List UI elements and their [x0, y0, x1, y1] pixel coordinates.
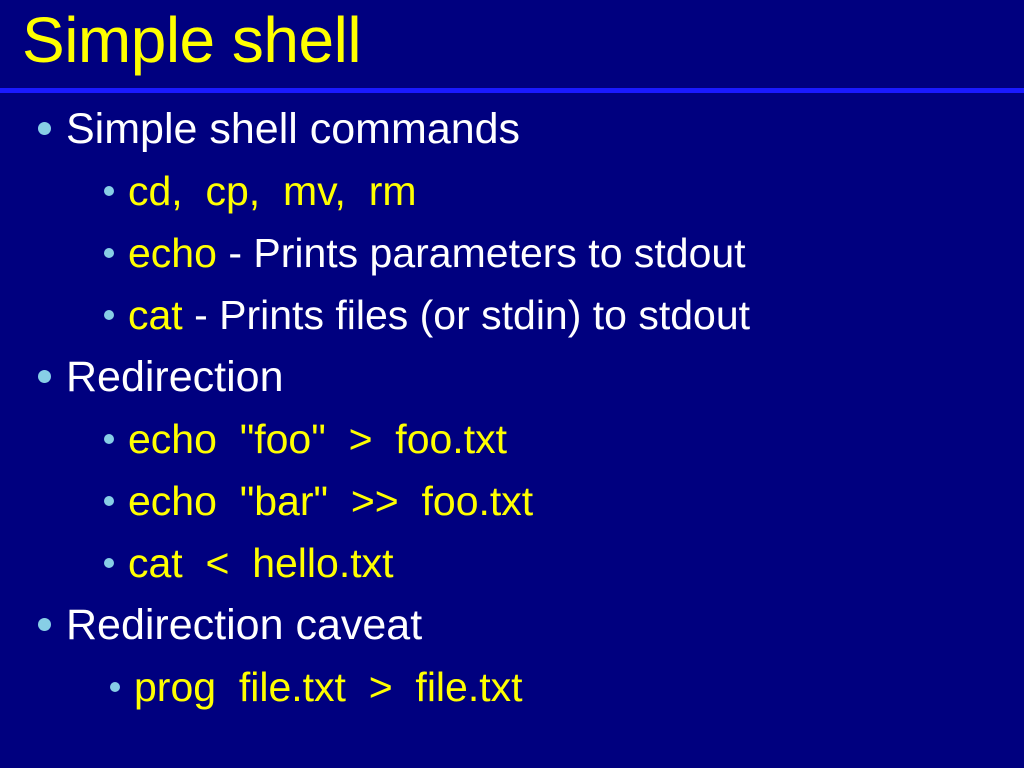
list-item-label: echo "bar" >> foo.txt — [128, 472, 533, 530]
list-item-label: Redirection — [66, 348, 284, 406]
list-item: Simple shell commands — [0, 100, 1024, 162]
bullet-dot-icon — [38, 370, 51, 383]
bullet-dot-icon — [104, 248, 114, 258]
page-title: Simple shell — [22, 4, 361, 76]
list-item: echo - Prints parameters to stdout — [0, 224, 1024, 286]
list-item-label: Redirection caveat — [66, 596, 422, 654]
slide: Simple shell Simple shell commands cd, c… — [0, 0, 1024, 768]
bullet-dot-icon — [104, 310, 114, 320]
list-item-label: echo "foo" > foo.txt — [128, 410, 507, 468]
list-item: echo "foo" > foo.txt — [0, 410, 1024, 472]
list-item-label: Simple shell commands — [66, 100, 520, 158]
command-description: - Prints files (or stdin) to stdout — [183, 292, 750, 338]
command-name: echo — [128, 230, 217, 276]
bullet-dot-icon — [38, 618, 51, 631]
bullet-dot-icon — [104, 558, 114, 568]
command-name: cat — [128, 292, 183, 338]
list-item-label: prog file.txt > file.txt — [134, 658, 523, 716]
slide-body: Simple shell commands cd, cp, mv, rm ech… — [0, 100, 1024, 720]
slide-title-area: Simple shell — [0, 0, 1024, 92]
list-item: Redirection — [0, 348, 1024, 410]
list-item-label: echo - Prints parameters to stdout — [128, 224, 746, 282]
bullet-dot-icon — [104, 186, 114, 196]
bullet-dot-icon — [104, 496, 114, 506]
list-item: cd, cp, mv, rm — [0, 162, 1024, 224]
list-item: Redirection caveat — [0, 596, 1024, 658]
list-item: echo "bar" >> foo.txt — [0, 472, 1024, 534]
list-item: prog file.txt > file.txt — [0, 658, 1024, 720]
list-item-label: cat - Prints files (or stdin) to stdout — [128, 286, 750, 344]
list-item: cat - Prints files (or stdin) to stdout — [0, 286, 1024, 348]
bullet-dot-icon — [104, 434, 114, 444]
bullet-dot-icon — [110, 682, 120, 692]
title-divider — [0, 88, 1024, 93]
bullet-dot-icon — [38, 122, 51, 135]
list-item-label: cd, cp, mv, rm — [128, 162, 417, 220]
list-item: cat < hello.txt — [0, 534, 1024, 596]
list-item-label: cat < hello.txt — [128, 534, 394, 592]
command-description: - Prints parameters to stdout — [217, 230, 746, 276]
